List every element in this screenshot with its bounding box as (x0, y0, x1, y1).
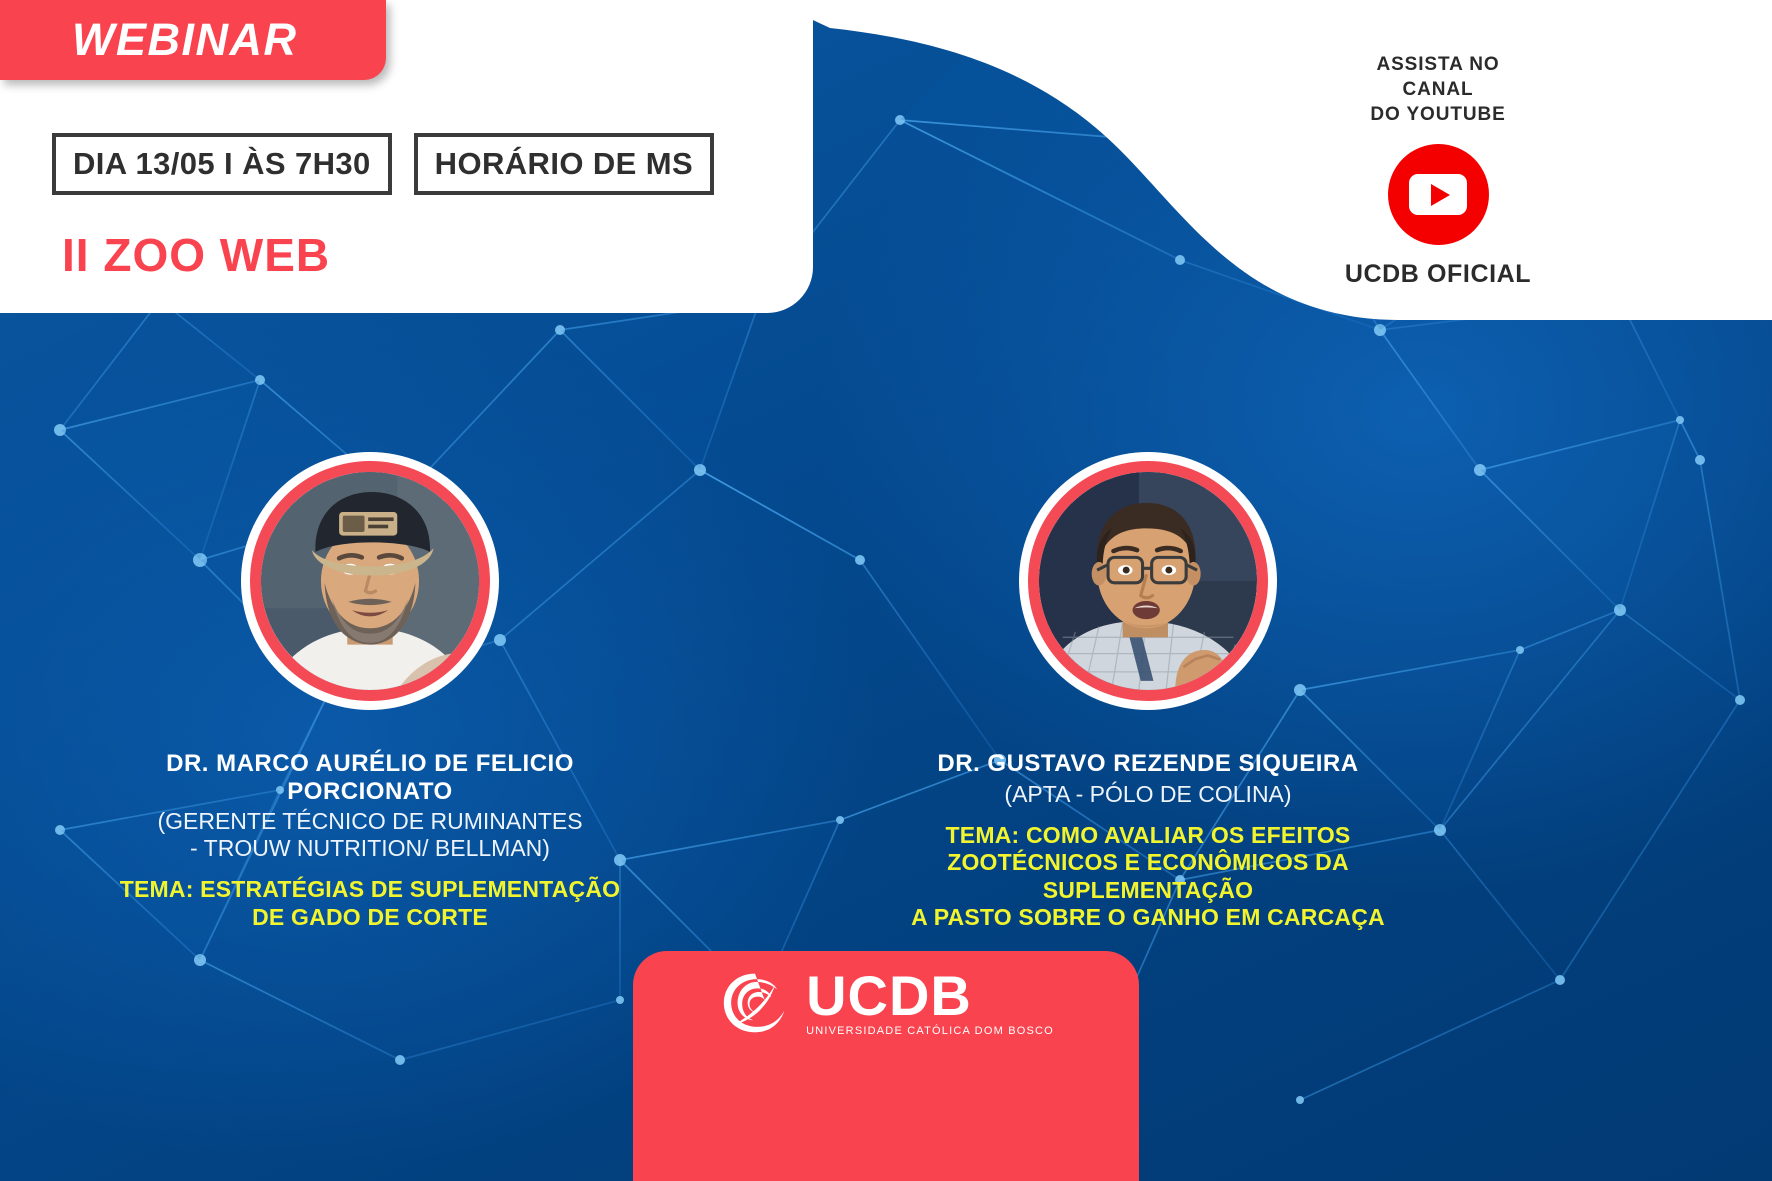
youtube-caption-line1: ASSISTA NO CANAL (1338, 52, 1538, 102)
date-box: DIA 13/05 I ÀS 7H30 (52, 133, 392, 195)
speaker-affiliation-line1: (APTA - PÓLO DE COLINA) (1004, 781, 1291, 808)
webinar-poster: WEBINAR DIA 13/05 I ÀS 7H30 HORÁRIO DE M… (0, 0, 1772, 1181)
avatar-ring (250, 461, 490, 701)
youtube-block[interactable]: ASSISTA NO CANAL DO YOUTUBE UCDB OFICIAL (1338, 52, 1538, 289)
speaker-theme-line3: A PASTO SOBRE O GANHO EM CARCAÇA (868, 904, 1428, 932)
event-title: II ZOO WEB (62, 228, 330, 282)
youtube-caption: ASSISTA NO CANAL DO YOUTUBE (1338, 52, 1538, 127)
youtube-caption-line2: DO YOUTUBE (1338, 102, 1538, 127)
speaker-theme-line1: TEMA: ESTRATÉGIAS DE SUPLEMENTAÇÃO (120, 876, 620, 904)
ucdb-logo: UCDB UNIVERSIDADE CATÓLICA DOM BOSCO (718, 969, 1054, 1037)
avatar (1019, 452, 1277, 710)
ucdb-swirl-icon (718, 970, 792, 1036)
speaker-photo-man-with-glasses (1039, 472, 1257, 690)
speaker-name: DR. MARCO AURÉLIO DE FELICIO PORCIONATO (90, 750, 650, 805)
ucdb-tagline: UNIVERSIDADE CATÓLICA DOM BOSCO (806, 1025, 1054, 1037)
speaker-affiliation: (GERENTE TÉCNICO DE RUMINANTES - TROUW N… (157, 808, 582, 862)
speaker-theme-line2: DE GADO DE CORTE (120, 904, 620, 932)
speaker-theme: TEMA: ESTRATÉGIAS DE SUPLEMENTAÇÃO DE GA… (120, 876, 620, 931)
youtube-screen-shape (1409, 174, 1467, 215)
speaker-card-right: DR. GUSTAVO REZENDE SIQUEIRA (APTA - PÓL… (868, 452, 1428, 932)
date-label: DIA 13/05 I ÀS 7H30 (73, 146, 371, 182)
avatar (241, 452, 499, 710)
speaker-affiliation: (APTA - PÓLO DE COLINA) (1004, 781, 1291, 808)
play-triangle-icon (1431, 184, 1450, 206)
webinar-badge-label: WEBINAR (0, 14, 297, 66)
youtube-play-icon[interactable] (1388, 144, 1489, 245)
speaker-theme: TEMA: COMO AVALIAR OS EFEITOS ZOOTÉCNICO… (868, 822, 1428, 932)
youtube-channel-name: UCDB OFICIAL (1345, 260, 1531, 289)
speaker-photo-man-with-cap (261, 472, 479, 690)
ucdb-wordmark: UCDB (806, 969, 972, 1023)
timezone-box: HORÁRIO DE MS (414, 133, 714, 195)
speaker-affiliation-line2: - TROUW NUTRITION/ BELLMAN) (157, 835, 582, 862)
avatar-ring (1028, 461, 1268, 701)
timezone-label: HORÁRIO DE MS (435, 146, 693, 182)
speaker-theme-line1: TEMA: COMO AVALIAR OS EFEITOS (868, 822, 1428, 850)
speaker-theme-line2: ZOOTÉCNICOS E ECONÔMICOS DA SUPLEMENTAÇÃ… (868, 849, 1428, 904)
ucdb-footer: UCDB UNIVERSIDADE CATÓLICA DOM BOSCO (633, 951, 1139, 1181)
ucdb-text: UCDB UNIVERSIDADE CATÓLICA DOM BOSCO (806, 969, 1054, 1037)
speaker-card-left: DR. MARCO AURÉLIO DE FELICIO PORCIONATO … (90, 452, 650, 931)
speaker-affiliation-line1: (GERENTE TÉCNICO DE RUMINANTES (157, 808, 582, 835)
schedule-boxes: DIA 13/05 I ÀS 7H30 HORÁRIO DE MS (52, 133, 714, 195)
speaker-name: DR. GUSTAVO REZENDE SIQUEIRA (937, 750, 1358, 778)
webinar-badge: WEBINAR (0, 0, 386, 80)
